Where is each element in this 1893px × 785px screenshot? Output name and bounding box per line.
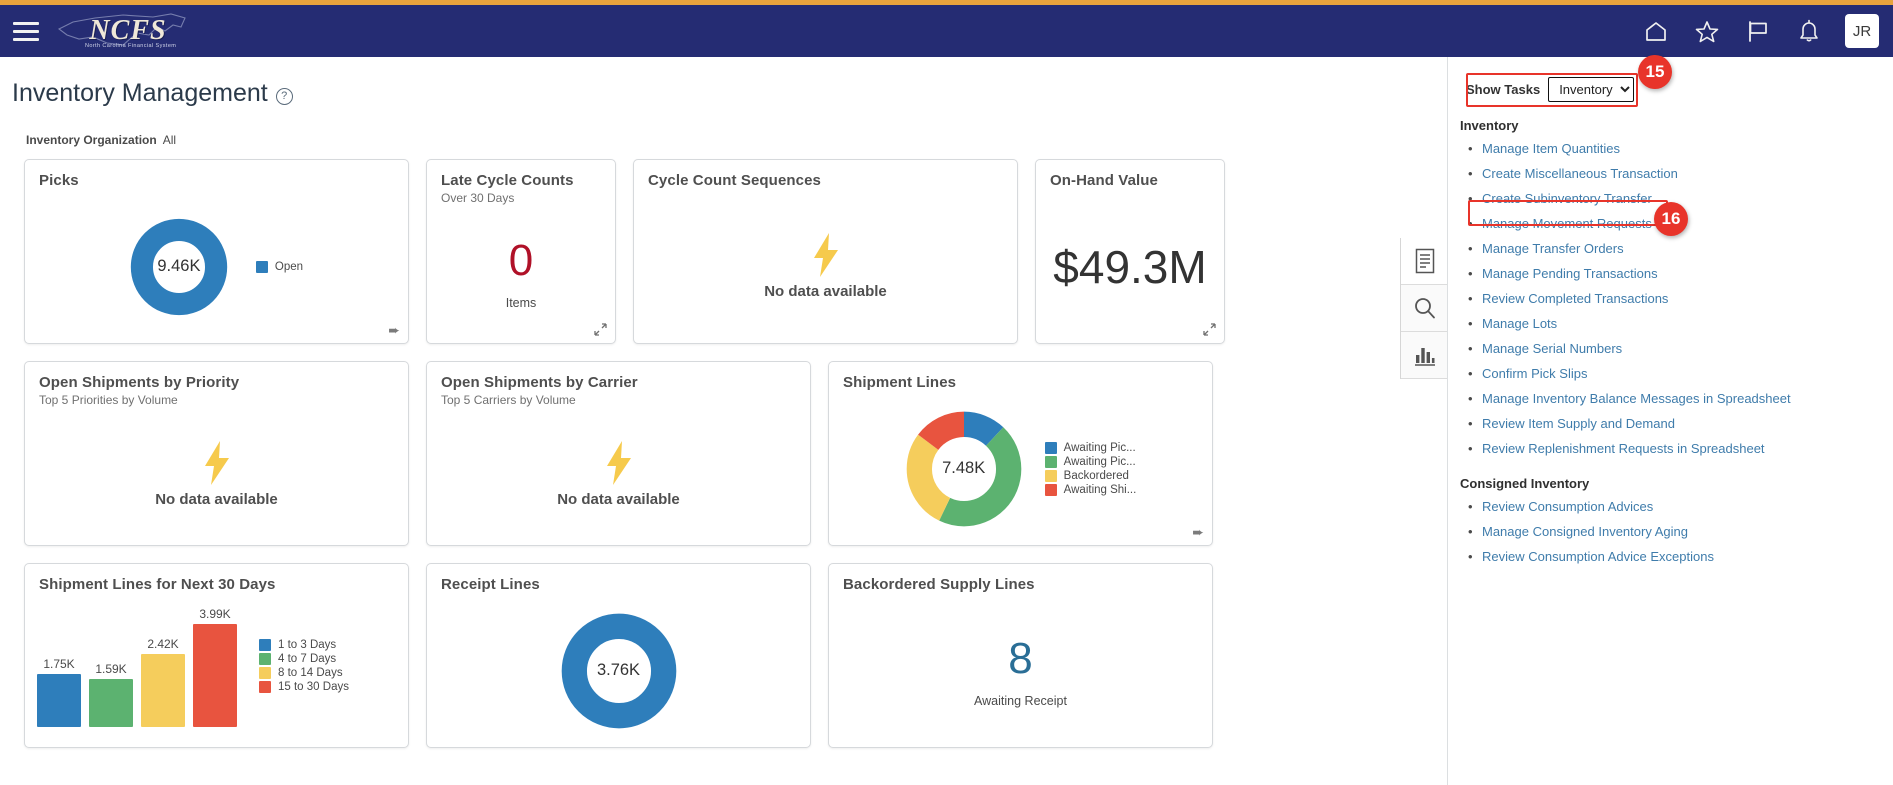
legend-item: 8 to 14 Days [259,667,349,679]
no-data-block: No data available [155,441,278,508]
bell-icon[interactable] [1794,16,1824,46]
bar-group: 1.75K 1.59K 2.42K [37,607,237,727]
shipment-lines-legend: Awaiting Pic... Awaiting Pic... Backorde… [1045,442,1137,496]
right-vertical-toolbar [1400,238,1447,379]
metric-block: $49.3M [1053,242,1206,292]
filter-label: Inventory Organization [26,133,157,147]
task-link-manage-inventory-balance-messages[interactable]: Manage Inventory Balance Messages in Spr… [1482,391,1791,406]
bar-value-label: 1.75K [43,657,74,671]
expand-icon[interactable] [1203,323,1216,336]
card-title: Open Shipments by Priority [39,373,394,392]
card-body: 7.48K Awaiting Pic... Awaiting Pic... [829,402,1212,535]
task-link-manage-lots[interactable]: Manage Lots [1482,316,1557,331]
search-icon[interactable] [1401,285,1447,332]
task-link-manage-pending-transactions[interactable]: Manage Pending Transactions [1482,266,1658,281]
task-list-inventory: Manage Item Quantities Create Miscellane… [1482,136,1893,461]
metric-value: 8 [1008,634,1032,684]
bar-column[interactable]: 1.59K [89,607,133,727]
home-icon[interactable] [1641,16,1671,46]
card-title: Shipment Lines for Next 30 Days [39,575,394,594]
list-item: Review Completed Transactions [1482,286,1893,311]
hamburger-menu-icon[interactable] [13,20,39,42]
list-item: Create Subinventory Transfer [1482,186,1893,211]
legend-swatch [1045,470,1057,482]
list-item: Review Consumption Advice Exceptions [1482,544,1893,569]
hamburger-bar [13,22,39,25]
card-title: Picks [39,171,394,190]
list-item: Review Replenishment Requests in Spreads… [1482,436,1893,461]
task-link-manage-movement-requests[interactable]: Manage Movement Requests [1482,216,1652,231]
card-title: Shipment Lines [843,373,1198,392]
metric-caption: Items [506,296,537,310]
donut-row: 9.46K Open [25,218,408,316]
star-icon[interactable] [1692,16,1722,46]
list-item: Manage Inventory Balance Messages in Spr… [1482,386,1893,411]
donut-row: 7.48K Awaiting Pic... Awaiting Pic... [829,410,1212,528]
logo-subtext: North Carolina Financial System [85,43,176,49]
card-title: Late Cycle Counts [441,171,601,190]
shipment-lines-donut-chart[interactable]: 7.48K [905,410,1023,528]
task-group-title-consigned-inventory: Consigned Inventory [1460,476,1893,491]
card-title: Open Shipments by Carrier [441,373,796,392]
tasks-panel: Show Tasks Inventory 15 Inventory Manage… [1447,57,1893,785]
card-subtitle: Top 5 Priorities by Volume [39,393,394,407]
task-link-review-item-supply-and-demand[interactable]: Review Item Supply and Demand [1482,416,1675,431]
app-header: NCFS North Carolina Financial System JR [0,5,1893,57]
list-item: Create Miscellaneous Transaction [1482,161,1893,186]
card-body: $49.3M [1036,200,1224,333]
no-data-text: No data available [557,491,680,508]
list-item: Manage Pending Transactions [1482,261,1893,286]
expand-icon[interactable] [594,323,607,336]
bar[interactable] [89,679,133,727]
legend-item: Awaiting Pic... [1045,442,1137,454]
help-question-icon[interactable]: ? [276,88,293,105]
card-late-cycle-counts[interactable]: Late Cycle Counts Over 30 Days 0 Items [426,159,616,344]
bar[interactable] [141,654,185,727]
legend-label: Backordered [1064,470,1129,482]
card-body: 8 Awaiting Receipt [829,604,1212,737]
ncfs-logo[interactable]: NCFS North Carolina Financial System [53,7,193,55]
receipt-lines-donut-chart[interactable]: 3.76K [560,612,678,730]
page-title-row: Inventory Management ? [0,57,1447,108]
legend-swatch [259,667,271,679]
bar-chart-legend: 1 to 3 Days 4 to 7 Days 8 to 14 Days [259,639,349,693]
legend-label: Open [275,261,303,273]
card-grid: Picks 9.46K Open [24,159,1444,748]
hamburger-bar [13,30,39,33]
card-title: On-Hand Value [1050,171,1210,190]
show-tasks-row: Show Tasks Inventory [1460,73,1632,106]
metric-value: $49.3M [1053,242,1206,292]
header-actions: JR [1641,5,1879,57]
legend-label: Awaiting Pic... [1064,442,1136,454]
hamburger-bar [13,38,39,41]
legend-swatch [1045,442,1057,454]
bar-value-label: 1.59K [95,662,126,676]
card-title: Receipt Lines [441,575,796,594]
legend-label: 15 to 30 Days [278,681,349,693]
card-body: No data available [634,200,1017,333]
bar-chart[interactable]: 1.75K 1.59K 2.42K [25,607,408,727]
card-open-shipments-by-priority[interactable]: Open Shipments by Priority Top 5 Priorit… [24,361,409,546]
legend-swatch [259,681,271,693]
card-body: 1.75K 1.59K 2.42K [25,598,408,735]
metric-value: 0 [509,236,533,286]
task-link-manage-transfer-orders[interactable]: Manage Transfer Orders [1482,241,1624,256]
bar-column[interactable]: 1.75K [37,607,81,727]
legend-label: Awaiting Pic... [1064,456,1136,468]
bar-chart-icon[interactable] [1401,332,1447,379]
card-title: Cycle Count Sequences [648,171,1003,190]
lightning-bolt-icon [602,441,636,485]
task-link-review-completed-transactions[interactable]: Review Completed Transactions [1482,291,1668,306]
list-item: Manage Consigned Inventory Aging [1482,519,1893,544]
donut-center-value: 3.76K [560,612,678,730]
donut-center-value: 7.48K [905,410,1023,528]
legend-item: Awaiting Shi... [1045,484,1137,496]
card-shipment-lines-next-30-days[interactable]: Shipment Lines for Next 30 Days 1.75K 1.… [24,563,409,748]
legend-item: 15 to 30 Days [259,681,349,693]
legend-item: 1 to 3 Days [259,639,349,651]
task-link-review-consumption-advices[interactable]: Review Consumption Advices [1482,499,1653,514]
card-body: No data available [25,414,408,535]
legend-swatch [259,653,271,665]
legend-item: Backordered [1045,470,1137,482]
dashboard-main: Inventory Management ? Inventory Organiz… [0,57,1447,785]
card-subtitle: Top 5 Carriers by Volume [441,393,796,407]
legend-label: Awaiting Shi... [1064,484,1137,496]
card-subtitle: Over 30 Days [441,191,601,205]
metric-caption: Awaiting Receipt [974,694,1067,708]
task-link-manage-item-quantities[interactable]: Manage Item Quantities [1482,141,1620,156]
no-data-block: No data available [557,441,680,508]
avatar[interactable]: JR [1845,14,1879,48]
list-item: Manage Lots [1482,311,1893,336]
donut-center-value: 9.46K [130,218,228,316]
donut-row: 3.76K [427,612,810,730]
no-data-text: No data available [764,283,887,300]
list-item: Review Item Supply and Demand [1482,411,1893,436]
card-body: No data available [427,414,810,535]
bar-value-label: 2.42K [147,637,178,651]
bar-column[interactable]: 2.42K [141,607,185,727]
card-open-shipments-by-carrier[interactable]: Open Shipments by Carrier Top 5 Carriers… [426,361,811,546]
legend-item: 4 to 7 Days [259,653,349,665]
legend-swatch [256,261,268,273]
card-body: 0 Items [427,212,615,333]
task-link-create-subinventory-transfer[interactable]: Create Subinventory Transfer [1482,191,1652,206]
card-body: 9.46K Open [25,200,408,333]
card-body: 3.76K [427,604,810,737]
list-item: Confirm Pick Slips [1482,361,1893,386]
list-item: Manage Item Quantities [1482,136,1893,161]
page-title: Inventory Management [12,79,268,108]
drill-arrow-icon[interactable]: ➨ [1192,525,1204,539]
lightning-bolt-icon [809,233,843,277]
show-tasks-label: Show Tasks [1466,82,1540,97]
card-on-hand-value[interactable]: On-Hand Value $49.3M [1035,159,1225,344]
legend-label: 1 to 3 Days [278,639,336,651]
step-badge-15: 15 [1638,55,1672,89]
inventory-organization-filter: Inventory OrganizationAll [26,133,1447,147]
legend-item: Open [256,261,303,273]
card-cycle-count-sequences[interactable]: Cycle Count Sequences No data available [633,159,1018,344]
bar[interactable] [193,624,237,727]
card-picks[interactable]: Picks 9.46K Open [24,159,409,344]
task-link-confirm-pick-slips[interactable]: Confirm Pick Slips [1482,366,1587,381]
list-item: Manage Transfer Orders [1482,236,1893,261]
task-link-manage-serial-numbers[interactable]: Manage Serial Numbers [1482,341,1622,356]
picks-donut-chart[interactable]: 9.46K [130,218,228,316]
step-badge-16: 16 [1654,202,1688,236]
legend-swatch [1045,484,1057,496]
list-item: Review Consumption Advices [1482,494,1893,519]
picks-legend: Open [256,261,303,273]
task-group-title-inventory: Inventory [1460,118,1893,133]
metric-block: 0 Items [506,236,537,310]
lightning-bolt-icon [200,441,234,485]
list-item: Manage Serial Numbers [1482,336,1893,361]
show-tasks-dropdown[interactable]: Inventory [1548,77,1634,102]
legend-swatch [1045,456,1057,468]
legend-swatch [259,639,271,651]
no-data-text: No data available [155,491,278,508]
filter-value[interactable]: All [163,133,176,147]
bar-column[interactable]: 3.99K [193,607,237,727]
page-body: Inventory Management ? Inventory Organiz… [0,57,1893,785]
metric-block: 8 Awaiting Receipt [974,634,1067,708]
bar[interactable] [37,674,81,727]
task-link-review-replenishment-requests[interactable]: Review Replenishment Requests in Spreads… [1482,441,1765,456]
card-shipment-lines[interactable]: Shipment Lines 7.48K [828,361,1213,546]
task-link-create-miscellaneous-transaction[interactable]: Create Miscellaneous Transaction [1482,166,1678,181]
flag-icon[interactable] [1743,16,1773,46]
task-link-manage-consigned-inventory-aging[interactable]: Manage Consigned Inventory Aging [1482,524,1688,539]
document-list-icon[interactable] [1401,238,1447,285]
no-data-block: No data available [764,233,887,300]
card-title: Backordered Supply Lines [843,575,1198,594]
legend-item: Awaiting Pic... [1045,456,1137,468]
card-receipt-lines[interactable]: Receipt Lines 3.76K [426,563,811,748]
task-list-consigned-inventory: Review Consumption Advices Manage Consig… [1482,494,1893,569]
task-link-review-consumption-advice-exceptions[interactable]: Review Consumption Advice Exceptions [1482,549,1714,564]
card-backordered-supply-lines[interactable]: Backordered Supply Lines 8 Awaiting Rece… [828,563,1213,748]
drill-arrow-icon[interactable]: ➨ [388,323,400,337]
legend-label: 8 to 14 Days [278,667,343,679]
bar-value-label: 3.99K [199,607,230,621]
legend-label: 4 to 7 Days [278,653,336,665]
